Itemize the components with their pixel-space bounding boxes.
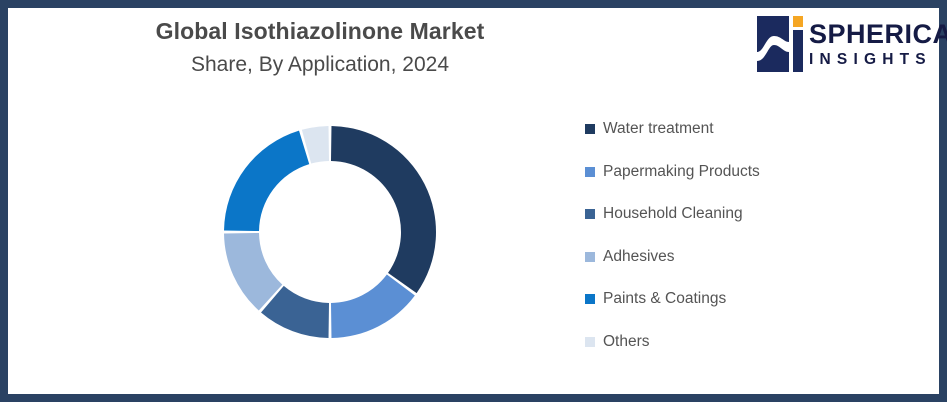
legend-item[interactable]: Others: [585, 321, 915, 364]
brand-logo: SPHERICAL INSIGHTS: [757, 14, 932, 74]
legend-item-label: Others: [603, 333, 650, 351]
legend-swatch-icon: [585, 209, 595, 219]
donut-slice[interactable]: [331, 126, 436, 293]
legend-swatch-icon: [585, 337, 595, 347]
legend-swatch-icon: [585, 252, 595, 262]
legend-swatch-icon: [585, 167, 595, 177]
page-title: Global Isothiazolinone Market Share, By …: [60, 18, 580, 78]
legend-item-label: Papermaking Products: [603, 163, 760, 181]
legend-item[interactable]: Water treatment: [585, 108, 915, 151]
chart-legend: Water treatment Papermaking Products Hou…: [585, 108, 915, 363]
legend-item[interactable]: Adhesives: [585, 236, 915, 279]
spherical-insights-logo-icon: [757, 16, 803, 72]
legend-item-label: Paints & Coatings: [603, 290, 726, 308]
donut-slice[interactable]: [224, 131, 309, 231]
logo-name-bottom: INSIGHTS: [809, 52, 947, 68]
donut-slice[interactable]: [331, 275, 415, 338]
logo-name-top: SPHERICAL: [809, 21, 947, 48]
legend-swatch-icon: [585, 124, 595, 134]
chart-title-main: Global Isothiazolinone Market: [60, 18, 580, 46]
donut-chart-svg: [222, 124, 438, 340]
legend-item-label: Water treatment: [603, 120, 714, 138]
legend-item[interactable]: Paints & Coatings: [585, 278, 915, 321]
legend-item[interactable]: Household Cleaning: [585, 193, 915, 236]
legend-item[interactable]: Papermaking Products: [585, 151, 915, 194]
legend-swatch-icon: [585, 294, 595, 304]
chart-figure: Global Isothiazolinone Market Share, By …: [0, 0, 947, 402]
chart-title-subtitle: Share, By Application, 2024: [60, 52, 580, 78]
legend-item-label: Adhesives: [603, 248, 675, 266]
legend-item-label: Household Cleaning: [603, 205, 743, 223]
logo-wordmark: SPHERICAL INSIGHTS: [809, 21, 947, 68]
donut-chart: [222, 124, 438, 340]
